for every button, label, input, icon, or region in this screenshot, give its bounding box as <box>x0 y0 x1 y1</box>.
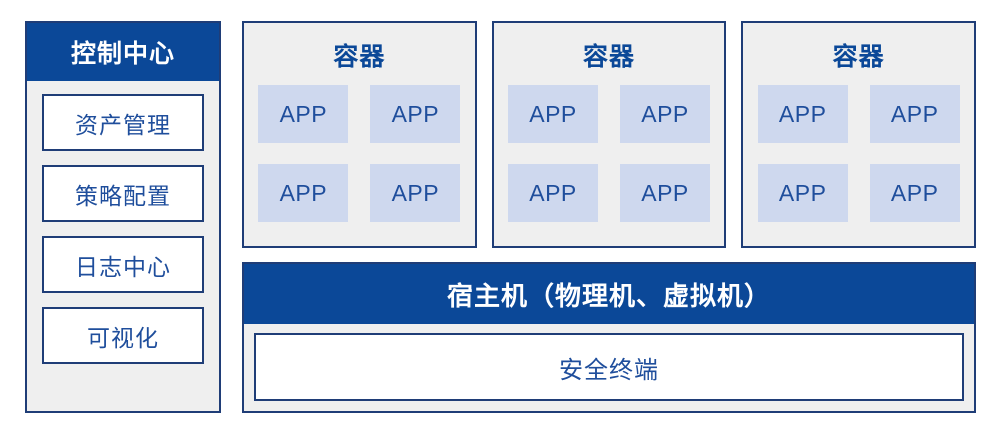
host-machine-title: 宿主机（物理机、虚拟机） <box>244 264 974 324</box>
app-grid: APP APP APP APP <box>758 85 960 222</box>
control-center-panel: 控制中心 资产管理 策略配置 日志中心 可视化 <box>25 21 221 413</box>
app-box[interactable]: APP <box>620 85 710 143</box>
container-title: 容器 <box>833 37 885 73</box>
container-panel-1: 容器 APP APP APP APP <box>242 21 477 248</box>
container-panel-3: 容器 APP APP APP APP <box>741 21 976 248</box>
container-panel-2: 容器 APP APP APP APP <box>492 21 727 248</box>
architecture-diagram: 控制中心 资产管理 策略配置 日志中心 可视化 容器 APP APP APP A… <box>0 0 1001 437</box>
host-machine-panel: 宿主机（物理机、虚拟机） 安全终端 <box>242 262 976 413</box>
security-terminal-box[interactable]: 安全终端 <box>254 333 964 401</box>
app-grid: APP APP APP APP <box>258 85 460 222</box>
app-box[interactable]: APP <box>870 164 960 222</box>
container-title: 容器 <box>583 37 635 73</box>
control-center-item-policy-config[interactable]: 策略配置 <box>42 165 204 222</box>
app-grid: APP APP APP APP <box>508 85 710 222</box>
app-box[interactable]: APP <box>370 85 460 143</box>
containers-row: 容器 APP APP APP APP 容器 APP APP APP APP 容器… <box>242 21 976 248</box>
control-center-item-visualization[interactable]: 可视化 <box>42 307 204 364</box>
app-box[interactable]: APP <box>370 164 460 222</box>
control-center-item-log-center[interactable]: 日志中心 <box>42 236 204 293</box>
control-center-item-asset-management[interactable]: 资产管理 <box>42 94 204 151</box>
app-box[interactable]: APP <box>758 85 848 143</box>
host-machine-body: 安全终端 <box>244 324 974 411</box>
app-box[interactable]: APP <box>758 164 848 222</box>
control-center-title: 控制中心 <box>27 23 219 81</box>
app-box[interactable]: APP <box>258 164 348 222</box>
app-box[interactable]: APP <box>508 164 598 222</box>
app-box[interactable]: APP <box>258 85 348 143</box>
app-box[interactable]: APP <box>508 85 598 143</box>
app-box[interactable]: APP <box>870 85 960 143</box>
container-title: 容器 <box>333 37 385 73</box>
app-box[interactable]: APP <box>620 164 710 222</box>
control-center-item-list: 资产管理 策略配置 日志中心 可视化 <box>27 81 219 377</box>
